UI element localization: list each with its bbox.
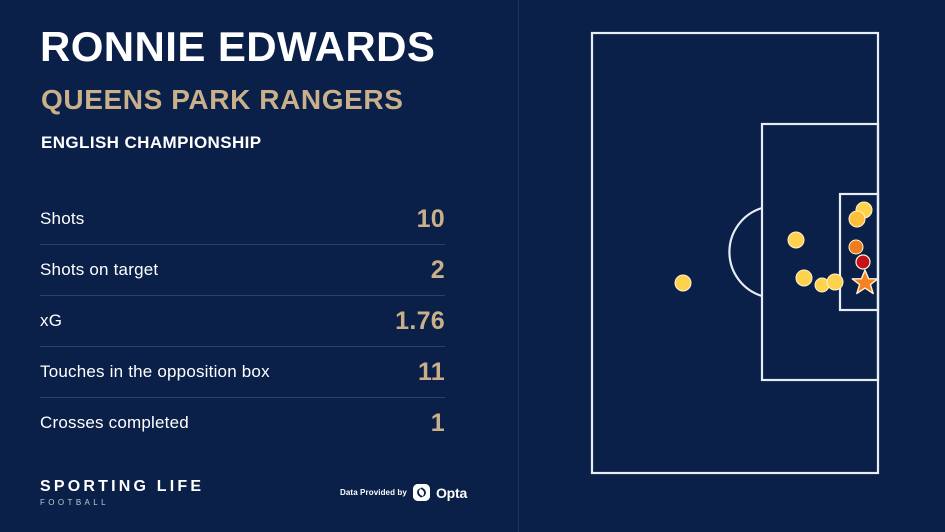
stat-value: 11 <box>418 358 445 387</box>
table-row: Shots on target 2 <box>40 245 445 296</box>
opta-logo-icon <box>413 484 430 501</box>
shot-marker <box>849 240 863 254</box>
shot-map-panel <box>518 0 945 532</box>
shot-marker <box>849 211 865 227</box>
sporting-life-logo: SPORTING LIFE FOOTBALL <box>40 478 204 508</box>
stats-panel: RONNIE EDWARDS QUEENS PARK RANGERS ENGLI… <box>0 0 518 532</box>
shot-marker <box>788 232 804 248</box>
pitch-diagram <box>518 0 945 532</box>
data-credit-label: Data Provided by <box>340 488 407 497</box>
stat-value: 1.76 <box>395 307 445 336</box>
stat-label: Shots on target <box>40 260 158 280</box>
shot-markers <box>675 202 872 292</box>
stat-label: Crosses completed <box>40 413 189 433</box>
stat-label: xG <box>40 311 62 331</box>
stat-value: 10 <box>417 205 445 234</box>
table-row: Touches in the opposition box 11 <box>40 347 445 398</box>
competition-subtitle: ENGLISH CHAMPIONSHIP <box>41 134 262 151</box>
stat-value: 1 <box>431 409 445 438</box>
shot-marker <box>856 255 870 269</box>
stat-label: Shots <box>40 209 84 229</box>
table-row: Shots 10 <box>40 194 445 245</box>
goal-star-icon <box>852 270 878 294</box>
brand-secondary-text: FOOTBALL <box>40 498 204 508</box>
brand-primary-text: SPORTING LIFE <box>40 478 204 496</box>
shot-map-graphic: RONNIE EDWARDS QUEENS PARK RANGERS ENGLI… <box>0 0 945 532</box>
page-title: RONNIE EDWARDS <box>40 26 435 68</box>
stats-table: Shots 10 Shots on target 2 xG 1.76 Touch… <box>40 194 445 448</box>
shot-marker <box>675 275 691 291</box>
shot-marker <box>796 270 812 286</box>
stat-value: 2 <box>431 256 445 285</box>
shot-marker <box>827 274 843 290</box>
table-row: Crosses completed 1 <box>40 398 445 448</box>
data-credit: Data Provided by Opta <box>340 484 467 501</box>
stat-label: Touches in the opposition box <box>40 362 270 382</box>
opta-wordmark: Opta <box>436 485 467 501</box>
team-subtitle: QUEENS PARK RANGERS <box>41 86 403 114</box>
penalty-arc <box>729 208 762 296</box>
pitch-outline <box>592 33 878 473</box>
table-row: xG 1.76 <box>40 296 445 347</box>
